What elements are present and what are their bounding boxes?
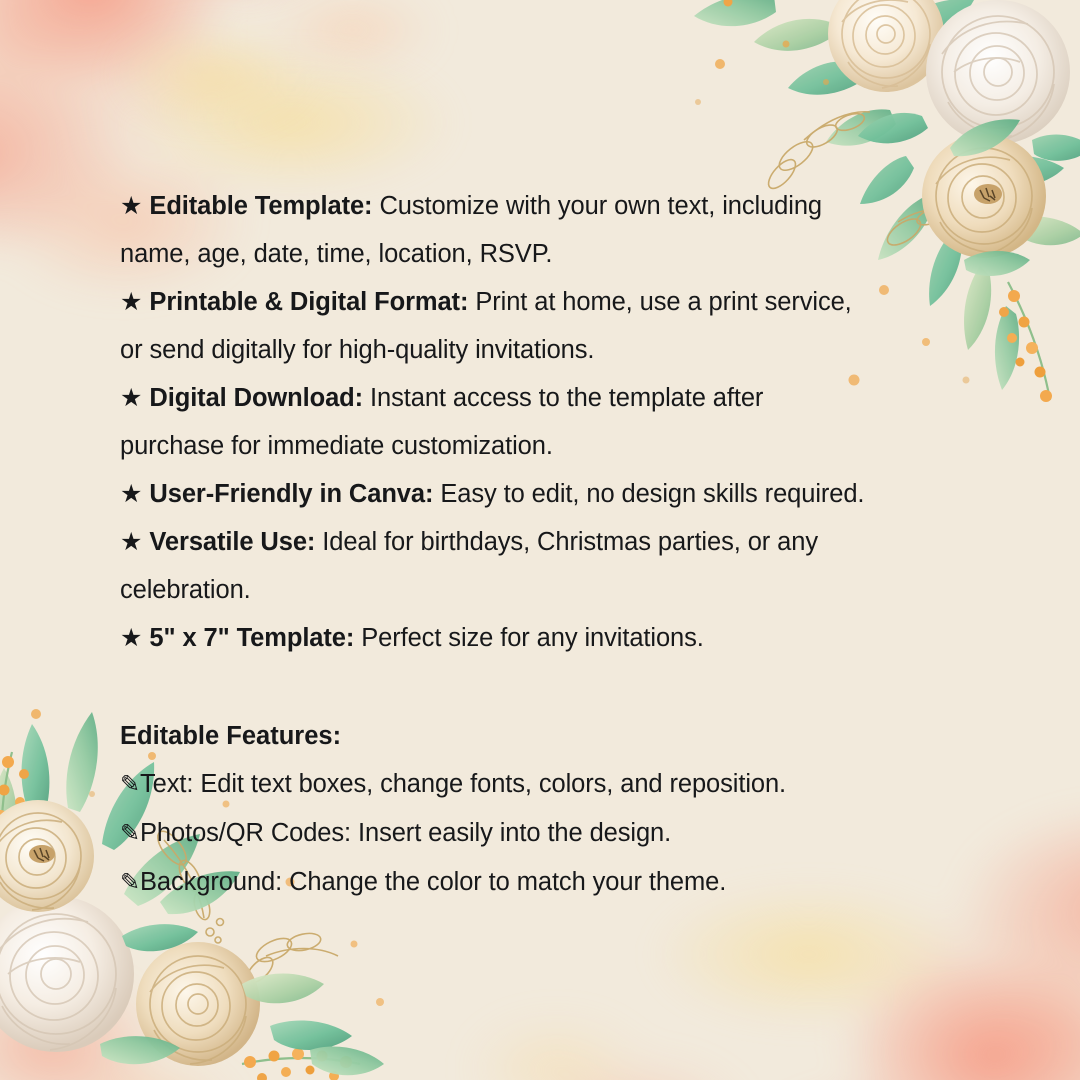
editable-features-heading: Editable Features: [120, 712, 968, 760]
star-icon: ★ [120, 192, 142, 220]
feature-label: Versatile Use: [149, 528, 315, 556]
listing-canvas: ★ Editable Template: Customize with your… [0, 0, 1080, 1080]
feature-item-printable-digital-line2: or send digitally for high-quality invit… [120, 326, 968, 374]
star-icon: ★ [120, 288, 142, 316]
pencil-icon: ✎ [120, 869, 140, 896]
feature-text: Ideal for birthdays, Christmas parties, … [315, 528, 818, 556]
feature-text: purchase for immediate customization. [120, 432, 553, 460]
feature-item-versatile-use-line2: celebration. [120, 566, 968, 614]
feature-list: ★ Editable Template: Customize with your… [120, 182, 968, 907]
feature-text: Print at home, use a print service, [468, 288, 851, 316]
editable-feature-text: ✎Text: Edit text boxes, change fonts, co… [120, 760, 968, 809]
pencil-icon: ✎ [120, 820, 140, 847]
rose-cream-upper [828, 0, 944, 92]
feature-text: or send digitally for high-quality invit… [120, 336, 594, 364]
feature-text: Instant access to the template after [363, 384, 763, 412]
pencil-icon: ✎ [120, 771, 140, 798]
feature-label: User-Friendly in Canva: [149, 480, 433, 508]
feature-item-editable-template: ★ Editable Template: Customize with your… [120, 182, 968, 230]
rose-golden-right [136, 942, 260, 1066]
feature-item-digital-download-line2: purchase for immediate customization. [120, 422, 968, 470]
editable-feature-photos-qr: ✎Photos/QR Codes: Insert easily into the… [120, 809, 968, 858]
feature-item-editable-template-line2: name, age, date, time, location, RSVP. [120, 230, 968, 278]
feature-text: name, age, date, time, location, RSVP. [120, 240, 552, 268]
feature-item-digital-download: ★ Digital Download: Instant access to th… [120, 374, 968, 422]
feature-label: Digital Download: [149, 384, 363, 412]
feature-text: Easy to edit, no design skills required. [433, 480, 864, 508]
feature-item-user-friendly-canva: ★ User-Friendly in Canva: Easy to edit, … [120, 470, 968, 518]
feature-label: Printable & Digital Format: [149, 288, 468, 316]
editable-feature-label: Background: Change the color to match yo… [140, 868, 726, 896]
feature-text: Perfect size for any invitations. [354, 624, 704, 652]
feature-item-template-size: ★ 5" x 7" Template: Perfect size for any… [120, 614, 968, 662]
section-spacer [120, 662, 968, 712]
star-icon: ★ [120, 528, 142, 556]
feature-label: 5" x 7" Template: [149, 624, 354, 652]
star-icon: ★ [120, 624, 142, 652]
feature-item-versatile-use: ★ Versatile Use: Ideal for birthdays, Ch… [120, 518, 968, 566]
star-icon: ★ [120, 384, 142, 412]
star-icon: ★ [120, 480, 142, 508]
editable-feature-background: ✎Background: Change the color to match y… [120, 858, 968, 907]
feature-text: Customize with your own text, including [372, 192, 822, 220]
rose-white-large [926, 0, 1070, 144]
rose-cream-upper-left [0, 800, 94, 912]
editable-feature-label: Photos/QR Codes: Insert easily into the … [140, 819, 671, 847]
feature-label: Editable Template: [149, 192, 372, 220]
feature-item-printable-digital: ★ Printable & Digital Format: Print at h… [120, 278, 968, 326]
feature-text: celebration. [120, 576, 251, 604]
watercolor-wash-bottom-middle [430, 960, 850, 1080]
rose-white-large-left [0, 896, 134, 1052]
editable-feature-label: Text: Edit text boxes, change fonts, col… [140, 770, 786, 798]
